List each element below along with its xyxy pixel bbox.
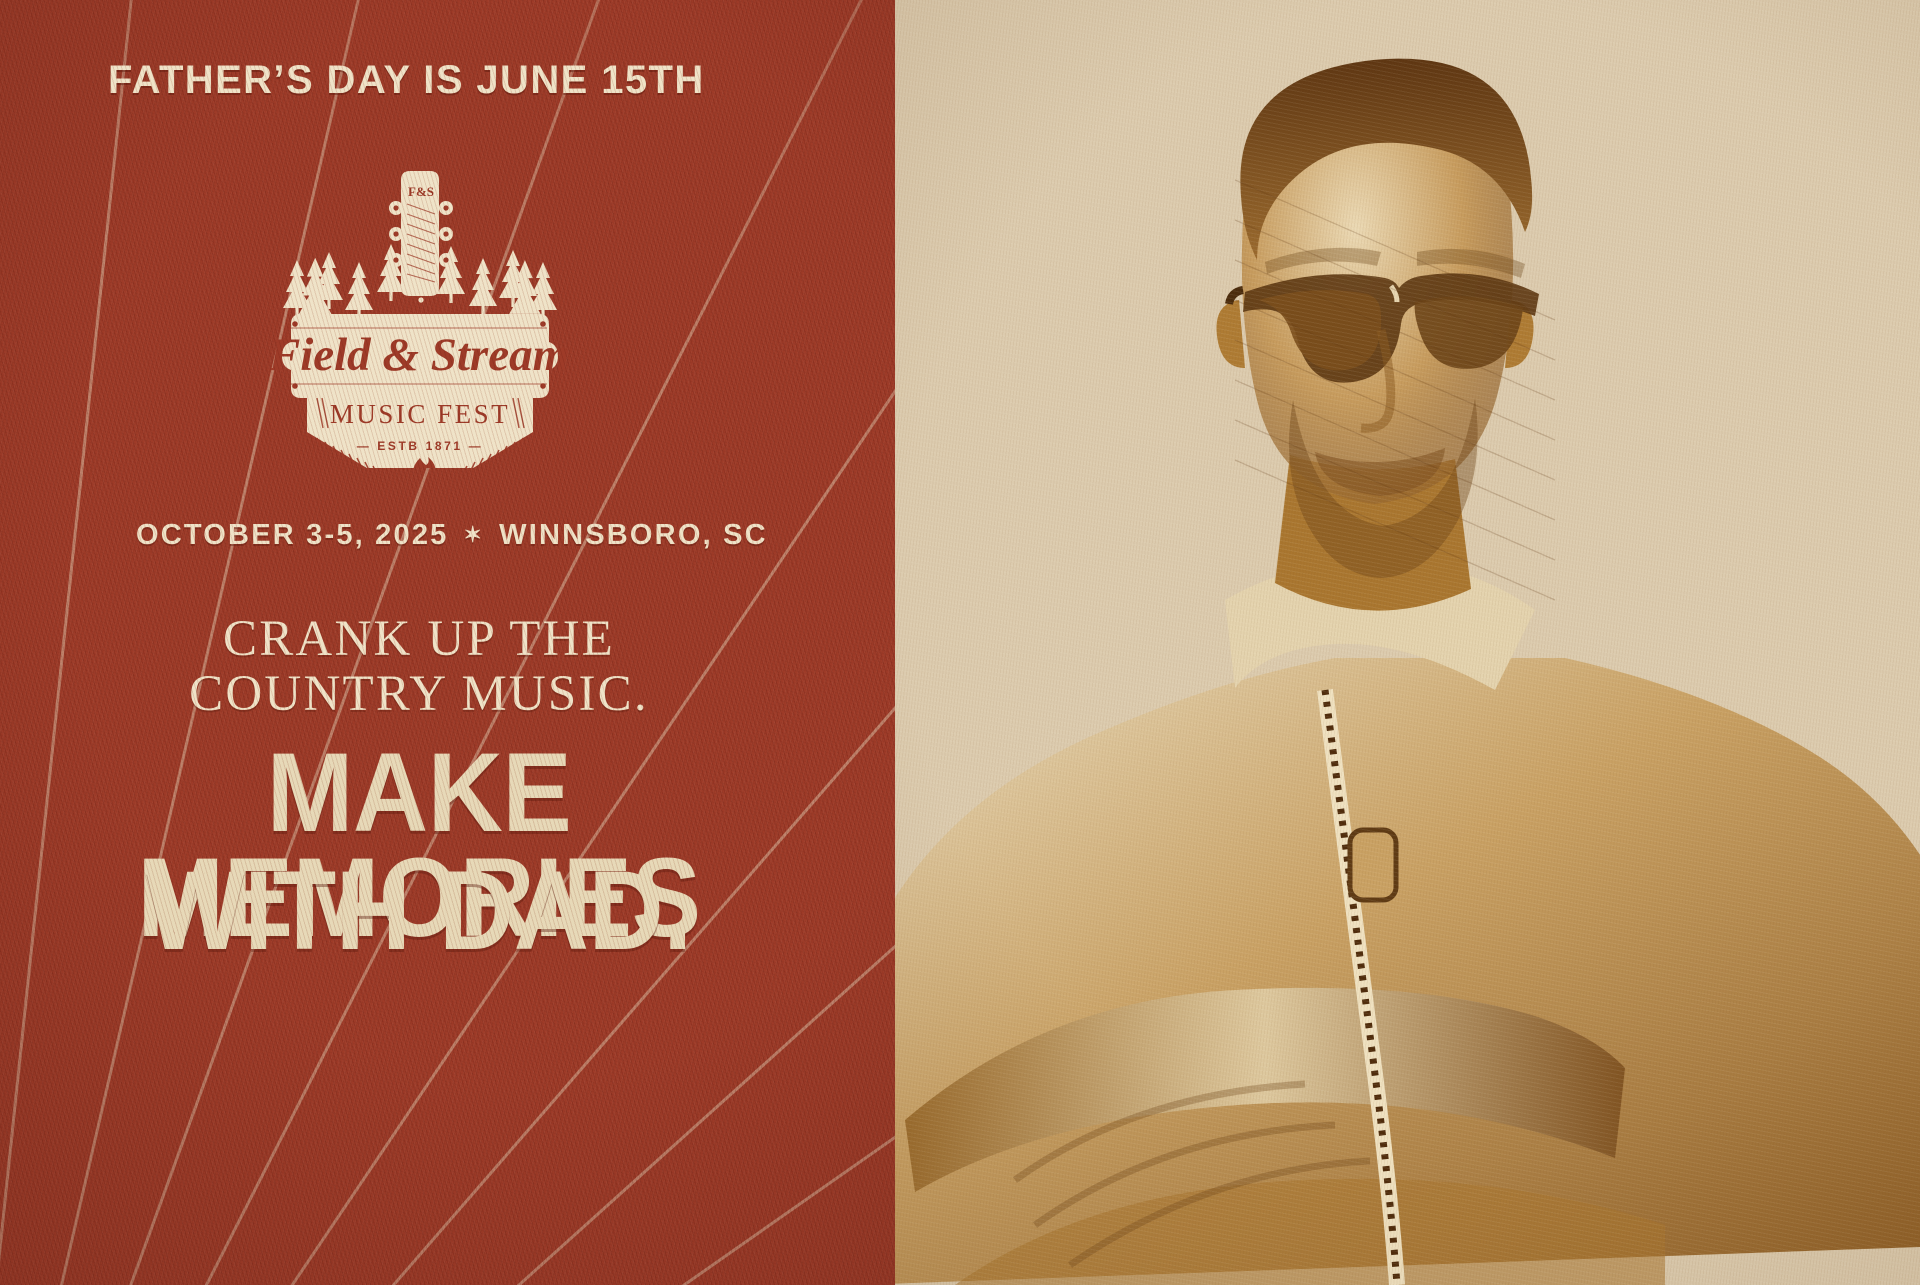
portrait-image [895, 0, 1920, 1285]
tagline-block: CRANK UP THE COUNTRY MUSIC. [0, 612, 838, 722]
badge-subtitle-bar: MUSIC FEST [307, 394, 533, 432]
badge-established-text: — ESTB 1871 — [357, 439, 484, 453]
right-photo-panel [895, 0, 1920, 1285]
location-text: WINNSBORO, SC [499, 519, 768, 552]
badge-plaque: Field & Stream [268, 314, 569, 398]
headline-line-2: WITH DAD. [29, 858, 808, 963]
eyebrow-text: FATHER’S DAY IS JUNE 15TH [108, 58, 828, 103]
date-text: OCTOBER 3-5, 2025 [136, 519, 448, 552]
date-location-bar: OCTOBER 3-5, 2025 ✶ WINNSBORO, SC [136, 519, 836, 552]
badge-wordmark-text: Field & Stream [268, 329, 569, 381]
star-icon: ✶ [463, 524, 484, 546]
field-and-stream-badge: F&S [255, 128, 585, 468]
tagline-line-1: CRANK UP THE [0, 612, 838, 667]
tagline-line-2: COUNTRY MUSIC. [0, 667, 838, 722]
poster-canvas: FATHER’S DAY IS JUNE 15TH [0, 0, 1920, 1285]
headstock-mark-text: F&S [408, 184, 434, 199]
ear-left [1216, 300, 1245, 368]
badge-shield-point: — ESTB 1871 — [307, 432, 533, 468]
badge-subtitle-text: MUSIC FEST [330, 399, 510, 429]
left-red-panel: FATHER’S DAY IS JUNE 15TH [0, 0, 895, 1285]
